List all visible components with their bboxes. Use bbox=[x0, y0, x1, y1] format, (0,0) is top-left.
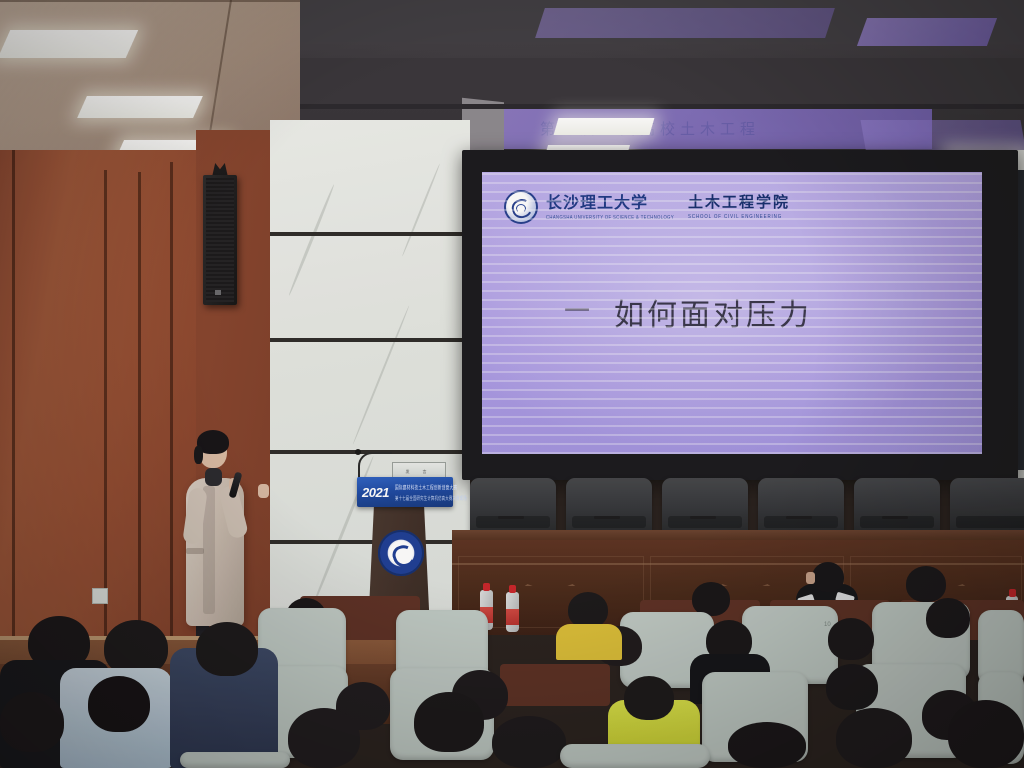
audience-head bbox=[826, 664, 878, 710]
marble-seam bbox=[270, 540, 470, 544]
head-table-chair[interactable] bbox=[758, 478, 844, 534]
audience-head bbox=[728, 722, 806, 768]
audience-head bbox=[414, 692, 484, 752]
soffit-edge bbox=[300, 104, 1024, 109]
marble-seam bbox=[270, 232, 470, 236]
wall-switch-plate bbox=[92, 588, 108, 604]
seat-number-label: 10 bbox=[824, 622, 831, 628]
audience-head bbox=[906, 566, 946, 602]
table-microphone bbox=[786, 516, 812, 519]
projection-screen[interactable]: 长沙理工大学 CHANGSHA UNIVERSITY OF SCIENCE & … bbox=[482, 172, 982, 454]
podium-mic-head bbox=[355, 449, 361, 455]
table-microphone bbox=[882, 516, 908, 519]
audience-head bbox=[0, 692, 64, 752]
head-table-chair[interactable] bbox=[854, 478, 940, 534]
university-emblem-icon bbox=[378, 530, 424, 576]
marble-seam bbox=[270, 338, 470, 342]
podium-banner: 2021 国际建材科技土木工程创新创意大赛 第十七届全国研究生计算机仿真大赛决赛… bbox=[357, 477, 453, 507]
table-microphone bbox=[690, 516, 716, 519]
table-microphone bbox=[498, 516, 524, 519]
audience-head bbox=[836, 708, 912, 768]
auditorium-seat[interactable] bbox=[560, 744, 710, 768]
auditorium-seat[interactable] bbox=[180, 752, 290, 768]
head-table-chair[interactable] bbox=[470, 478, 556, 534]
projector-scanlines bbox=[482, 172, 982, 454]
audience-head bbox=[624, 676, 674, 720]
head-table-chair[interactable] bbox=[950, 478, 1024, 534]
audience-head bbox=[948, 700, 1024, 768]
audience-head bbox=[692, 582, 730, 616]
ceiling-light-panel bbox=[77, 96, 203, 118]
head-table-chair[interactable] bbox=[566, 478, 652, 534]
projector-reflection bbox=[535, 8, 835, 38]
podium-display-label: 发 言 bbox=[393, 469, 445, 475]
seat-back-panel bbox=[500, 664, 610, 706]
projector-reflection bbox=[857, 18, 997, 46]
presenter-hand bbox=[258, 484, 269, 498]
audience-head bbox=[926, 598, 970, 638]
audience-head bbox=[492, 716, 566, 768]
audience-head bbox=[196, 622, 258, 676]
water-bottle[interactable] bbox=[506, 592, 519, 632]
audience-head bbox=[288, 708, 360, 768]
podium-banner-line1: 国际建材科技土木工程创新创意大赛 bbox=[395, 485, 449, 493]
ceiling-light-panel bbox=[554, 118, 655, 135]
photo-scene: 第七届全国高校土木工程 长沙理工大学 bbox=[0, 0, 1024, 768]
wall-speaker bbox=[203, 175, 237, 305]
table-microphone bbox=[594, 516, 620, 519]
audience-head bbox=[568, 592, 608, 628]
audience-gold-hood bbox=[556, 624, 622, 660]
speaker-led bbox=[215, 290, 221, 295]
soffit-beam bbox=[300, 58, 1024, 104]
wood-wall-left bbox=[0, 150, 200, 690]
ceiling-light-panel bbox=[0, 30, 138, 58]
podium-banner-line2: 第十七届全国研究生计算机仿真大赛决赛现场 bbox=[395, 494, 449, 502]
podium-year: 2021 bbox=[362, 486, 389, 499]
podium-gooseneck-mic bbox=[358, 452, 392, 480]
audience-head bbox=[88, 676, 150, 732]
audience-head bbox=[828, 618, 874, 660]
head-table-chair[interactable] bbox=[662, 478, 748, 534]
